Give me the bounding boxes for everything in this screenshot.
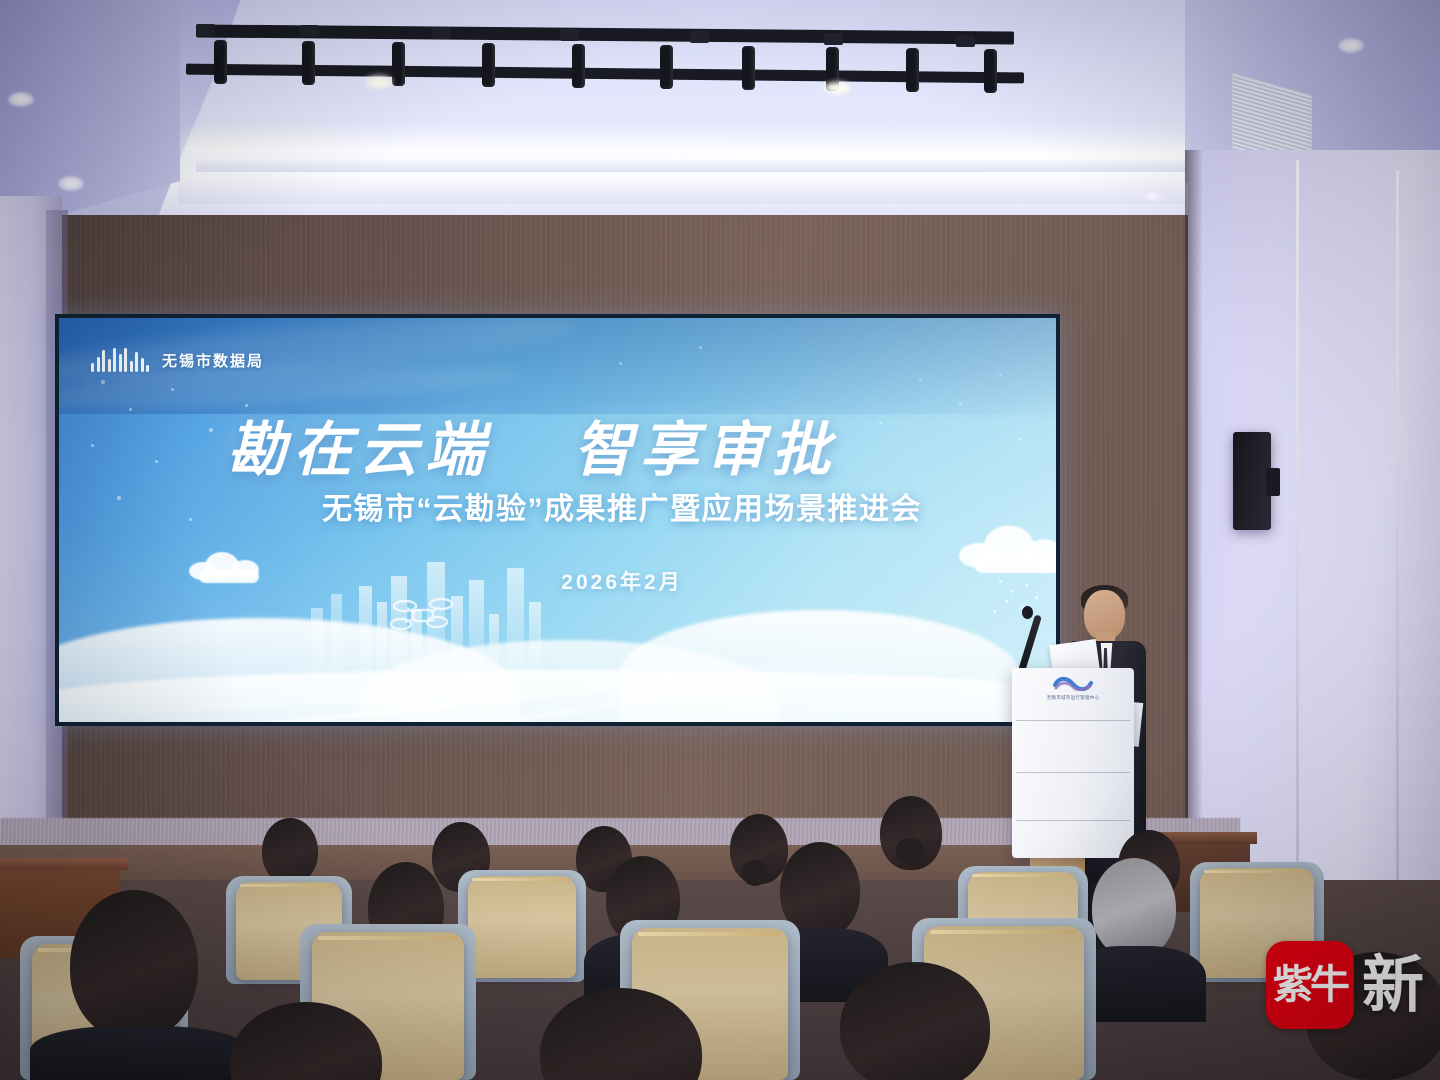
infinity-ribbon-logo-icon [1053, 676, 1093, 693]
slide-title-sub: 无锡市“云勘验”成果推广暨应用场景推进会 [227, 484, 1017, 528]
chair-trim [638, 932, 782, 936]
track-spotlight-icon [660, 45, 673, 89]
audience-head [262, 818, 318, 884]
track-mount [690, 31, 709, 43]
soundwave-bars-icon [91, 348, 149, 372]
chair-trim [472, 878, 572, 881]
speaker-bracket [1266, 468, 1280, 496]
watermark-badge: 紫牛 [1266, 941, 1354, 1029]
microphone-head [1022, 606, 1033, 619]
watermark: 紫牛 新 [1266, 941, 1424, 1029]
audience-hair-bun [742, 860, 768, 886]
track-spotlight-icon [984, 49, 997, 93]
track-spotlight-icon [214, 40, 227, 84]
track-spotlight-icon [302, 41, 315, 85]
audience-head-front [70, 890, 198, 1040]
chair-trim [318, 936, 458, 940]
right-wall-seam [1296, 160, 1299, 950]
track-light-bulb [824, 82, 850, 94]
slide-title-main: 勘在云端 智享审批 [227, 402, 987, 487]
track-spotlight-icon [742, 46, 755, 90]
audience-hair-bun [896, 838, 924, 864]
track-mount [196, 24, 215, 36]
downlight-icon [1338, 38, 1364, 53]
downlight-icon [58, 176, 84, 191]
audience-shoulders [30, 1026, 248, 1080]
chair [468, 876, 576, 978]
conference-room-photo: 无锡市数据局 勘在云端 智享审批 无锡市“云勘验”成果推广暨应用场景推进会 20… [0, 0, 1440, 1080]
chair-trim [240, 884, 338, 887]
track-spotlight-icon [906, 48, 919, 92]
downlight-icon [8, 92, 34, 107]
track-mount [560, 29, 579, 41]
chair-trim [1204, 870, 1310, 873]
side-table-top [0, 858, 128, 870]
track-spotlight-icon [572, 44, 585, 88]
podium-logo-text: 无锡市城市运行管理中心 [1026, 695, 1120, 701]
track-spotlight-icon [482, 43, 495, 87]
projection-screen: 无锡市数据局 勘在云端 智享审批 无锡市“云勘验”成果推广暨应用场景推进会 20… [59, 318, 1056, 722]
slide-org-logo-text: 无锡市数据局 [162, 350, 264, 371]
track-mount [956, 35, 975, 47]
audience-head-front [840, 962, 990, 1080]
chair-trim [972, 874, 1074, 877]
ceiling-strip-lower [178, 178, 1256, 204]
slide-date: 2026年2月 [227, 566, 1017, 596]
downlight-icon [1140, 188, 1166, 203]
watermark-word: 新 [1362, 954, 1424, 1016]
slide-org-logo: 无锡市数据局 [91, 348, 264, 372]
track-mount [300, 25, 319, 37]
track-spotlight-icon [392, 42, 405, 86]
chair-trim [930, 930, 1078, 934]
watermark-badge-text: 紫牛 [1273, 965, 1347, 1005]
right-wall-seam [1396, 170, 1399, 950]
track-light-bulb [366, 76, 392, 88]
audience-head-grey [1092, 858, 1176, 958]
track-mount [824, 33, 843, 45]
ceiling-strip [196, 160, 1236, 172]
track-mount [432, 27, 451, 39]
